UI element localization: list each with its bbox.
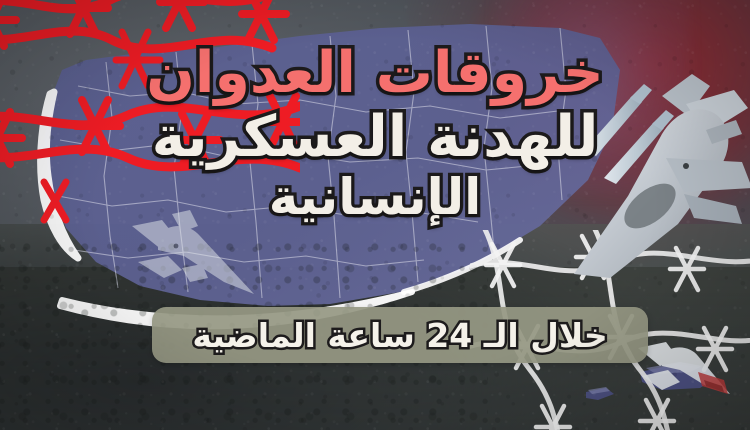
vignette-overlay [0, 0, 750, 430]
poster-canvas: خروقات العدوان للهدنة العسكرية الإنسانية… [0, 0, 750, 430]
